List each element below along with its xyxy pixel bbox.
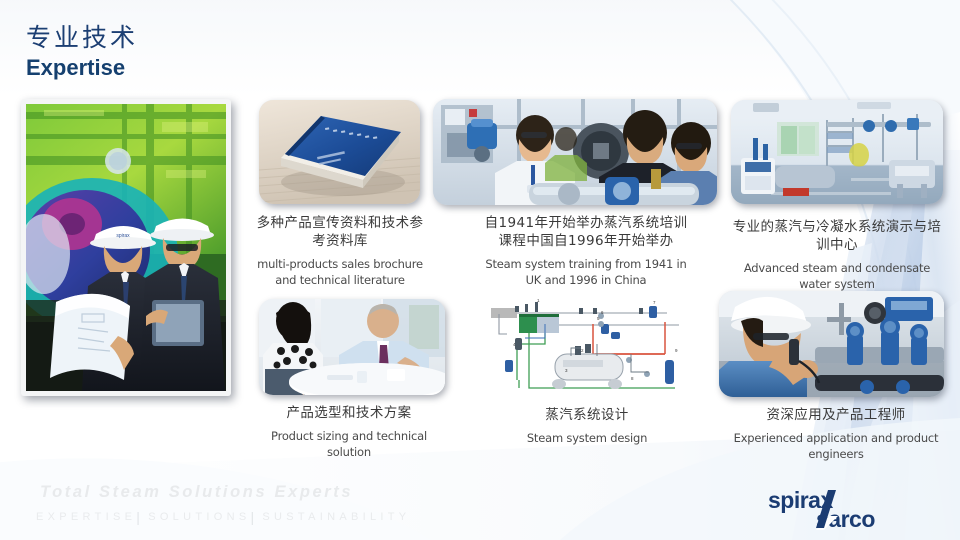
caption-literature-english: multi-products sales brochure and techni… [252, 257, 428, 288]
card-image-sizing[interactable] [259, 299, 445, 395]
card-image-training[interactable] [433, 99, 717, 205]
page-title: 专业技术 Expertise [26, 22, 138, 82]
card-image-demo-centre[interactable] [731, 100, 943, 204]
demonstration-training-centre-photo [731, 100, 943, 204]
card-image-system-design[interactable]: 12 34 56 78 9 [489, 294, 682, 393]
hero-photo-two-engineers[interactable]: spirax [21, 99, 231, 396]
page-title-english: Expertise [26, 54, 138, 82]
caption-sizing-english: Product sizing and technical solution [256, 429, 442, 460]
caption-engineers-english: Experienced application and product engi… [728, 431, 944, 462]
footer-pillar-solutions: SOLUTIONS [148, 511, 250, 523]
spirax-sarco-logo-graphic: spirax sarco [766, 486, 946, 532]
caption-demo-centre: 专业的蒸汽与冷凝水系统演示与培训中心 Advanced steam and co… [732, 218, 942, 292]
spirax-sarco-logo[interactable]: spirax sarco [766, 486, 946, 532]
caption-engineers-chinese: 资深应用及产品工程师 [728, 406, 944, 424]
hero-photo-image: spirax [26, 104, 226, 391]
two-engineers-reviewing-drawings-photo: spirax [26, 104, 226, 391]
caption-training-english: Steam system training from 1941 in UK an… [478, 257, 694, 288]
caption-literature-chinese: 多种产品宣传资料和技术参考资料库 [252, 214, 428, 250]
footer-tagline: Total Steam Solutions Experts [40, 483, 353, 502]
caption-engineers: 资深应用及产品工程师 Experienced application and p… [728, 406, 944, 462]
caption-system-design-chinese: 蒸汽系统设计 [490, 406, 684, 424]
slide-canvas: 专业技术 Expertise [0, 0, 960, 540]
footer-pillars: EXPERTISE | SOLUTIONS | SUSTAINABILITY [36, 509, 410, 525]
steam-training-class-photo [433, 99, 717, 205]
consultation-meeting-photo [259, 299, 445, 395]
steam-system-schematic-diagram: 12 34 56 78 9 [489, 294, 682, 393]
engineer-inspecting-valves-photo [719, 291, 944, 397]
caption-demo-centre-chinese: 专业的蒸汽与冷凝水系统演示与培训中心 [732, 218, 942, 254]
card-image-literature[interactable] [259, 100, 420, 204]
caption-literature: 多种产品宣传资料和技术参考资料库 multi-products sales br… [252, 214, 428, 288]
footer-pillar-sustainability: SUSTAINABILITY [262, 511, 410, 523]
page-title-chinese: 专业技术 [26, 22, 138, 53]
footer-divider-2: | [250, 509, 258, 525]
footer-divider-1: | [136, 509, 144, 525]
caption-sizing: 产品选型和技术方案 Product sizing and technical s… [256, 404, 442, 460]
svg-text:spirax: spirax [116, 233, 130, 239]
caption-training-chinese: 自1941年开始举办蒸汽系统培训课程中国自1996年开始举办 [478, 214, 694, 250]
footer-pillar-expertise: EXPERTISE [36, 511, 136, 523]
caption-sizing-chinese: 产品选型和技术方案 [256, 404, 442, 422]
caption-training: 自1941年开始举办蒸汽系统培训课程中国自1996年开始举办 Steam sys… [478, 214, 694, 288]
blue-hardcover-book-photo [259, 100, 420, 204]
caption-demo-centre-english: Advanced steam and condensate water syst… [732, 261, 942, 292]
caption-system-design-english: Steam system design [490, 431, 684, 447]
card-image-engineers[interactable] [719, 291, 944, 397]
caption-system-design: 蒸汽系统设计 Steam system design [490, 406, 684, 447]
